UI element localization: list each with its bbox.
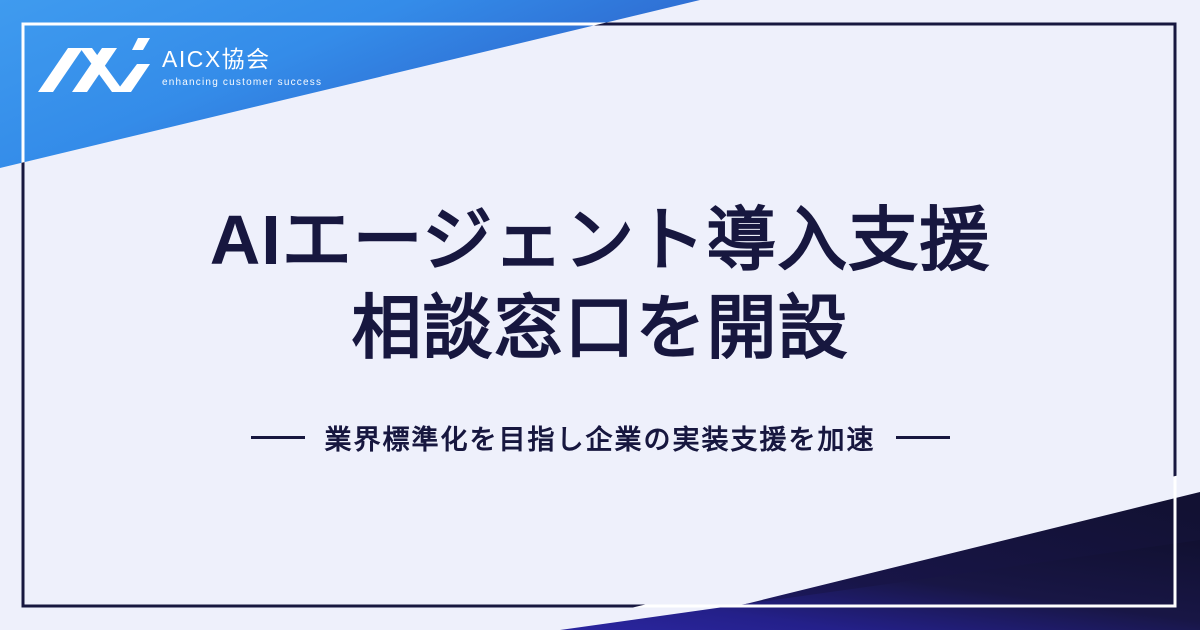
aicx-zigzag-logo-mark: [38, 38, 150, 96]
brand-logo: AICX協会 enhancing customer success: [38, 38, 322, 96]
headline-line-2: 相談窓口を開設: [0, 284, 1200, 372]
subtitle-rule-left: [251, 436, 305, 439]
subtitle-rule-right: [896, 436, 950, 439]
subtitle-row: 業界標準化を目指し企業の実装支援を加速: [0, 418, 1200, 457]
banner-root: AICX協会 enhancing customer success AIエージェ…: [0, 0, 1200, 630]
subtitle-text: 業界標準化を目指し企業の実装支援を加速: [325, 418, 876, 457]
brand-tagline: enhancing customer success: [162, 77, 322, 89]
brand-name: AICX協会: [162, 47, 271, 72]
page-title: AIエージェント導入支援 相談窓口を開設: [0, 196, 1200, 372]
headline-line-1: AIエージェント導入支援: [0, 196, 1200, 284]
headline-block: AIエージェント導入支援 相談窓口を開設 業界標準化を目指し企業の実装支援を加速: [0, 196, 1200, 457]
brand-logo-text: AICX協会 enhancing customer success: [162, 45, 322, 89]
